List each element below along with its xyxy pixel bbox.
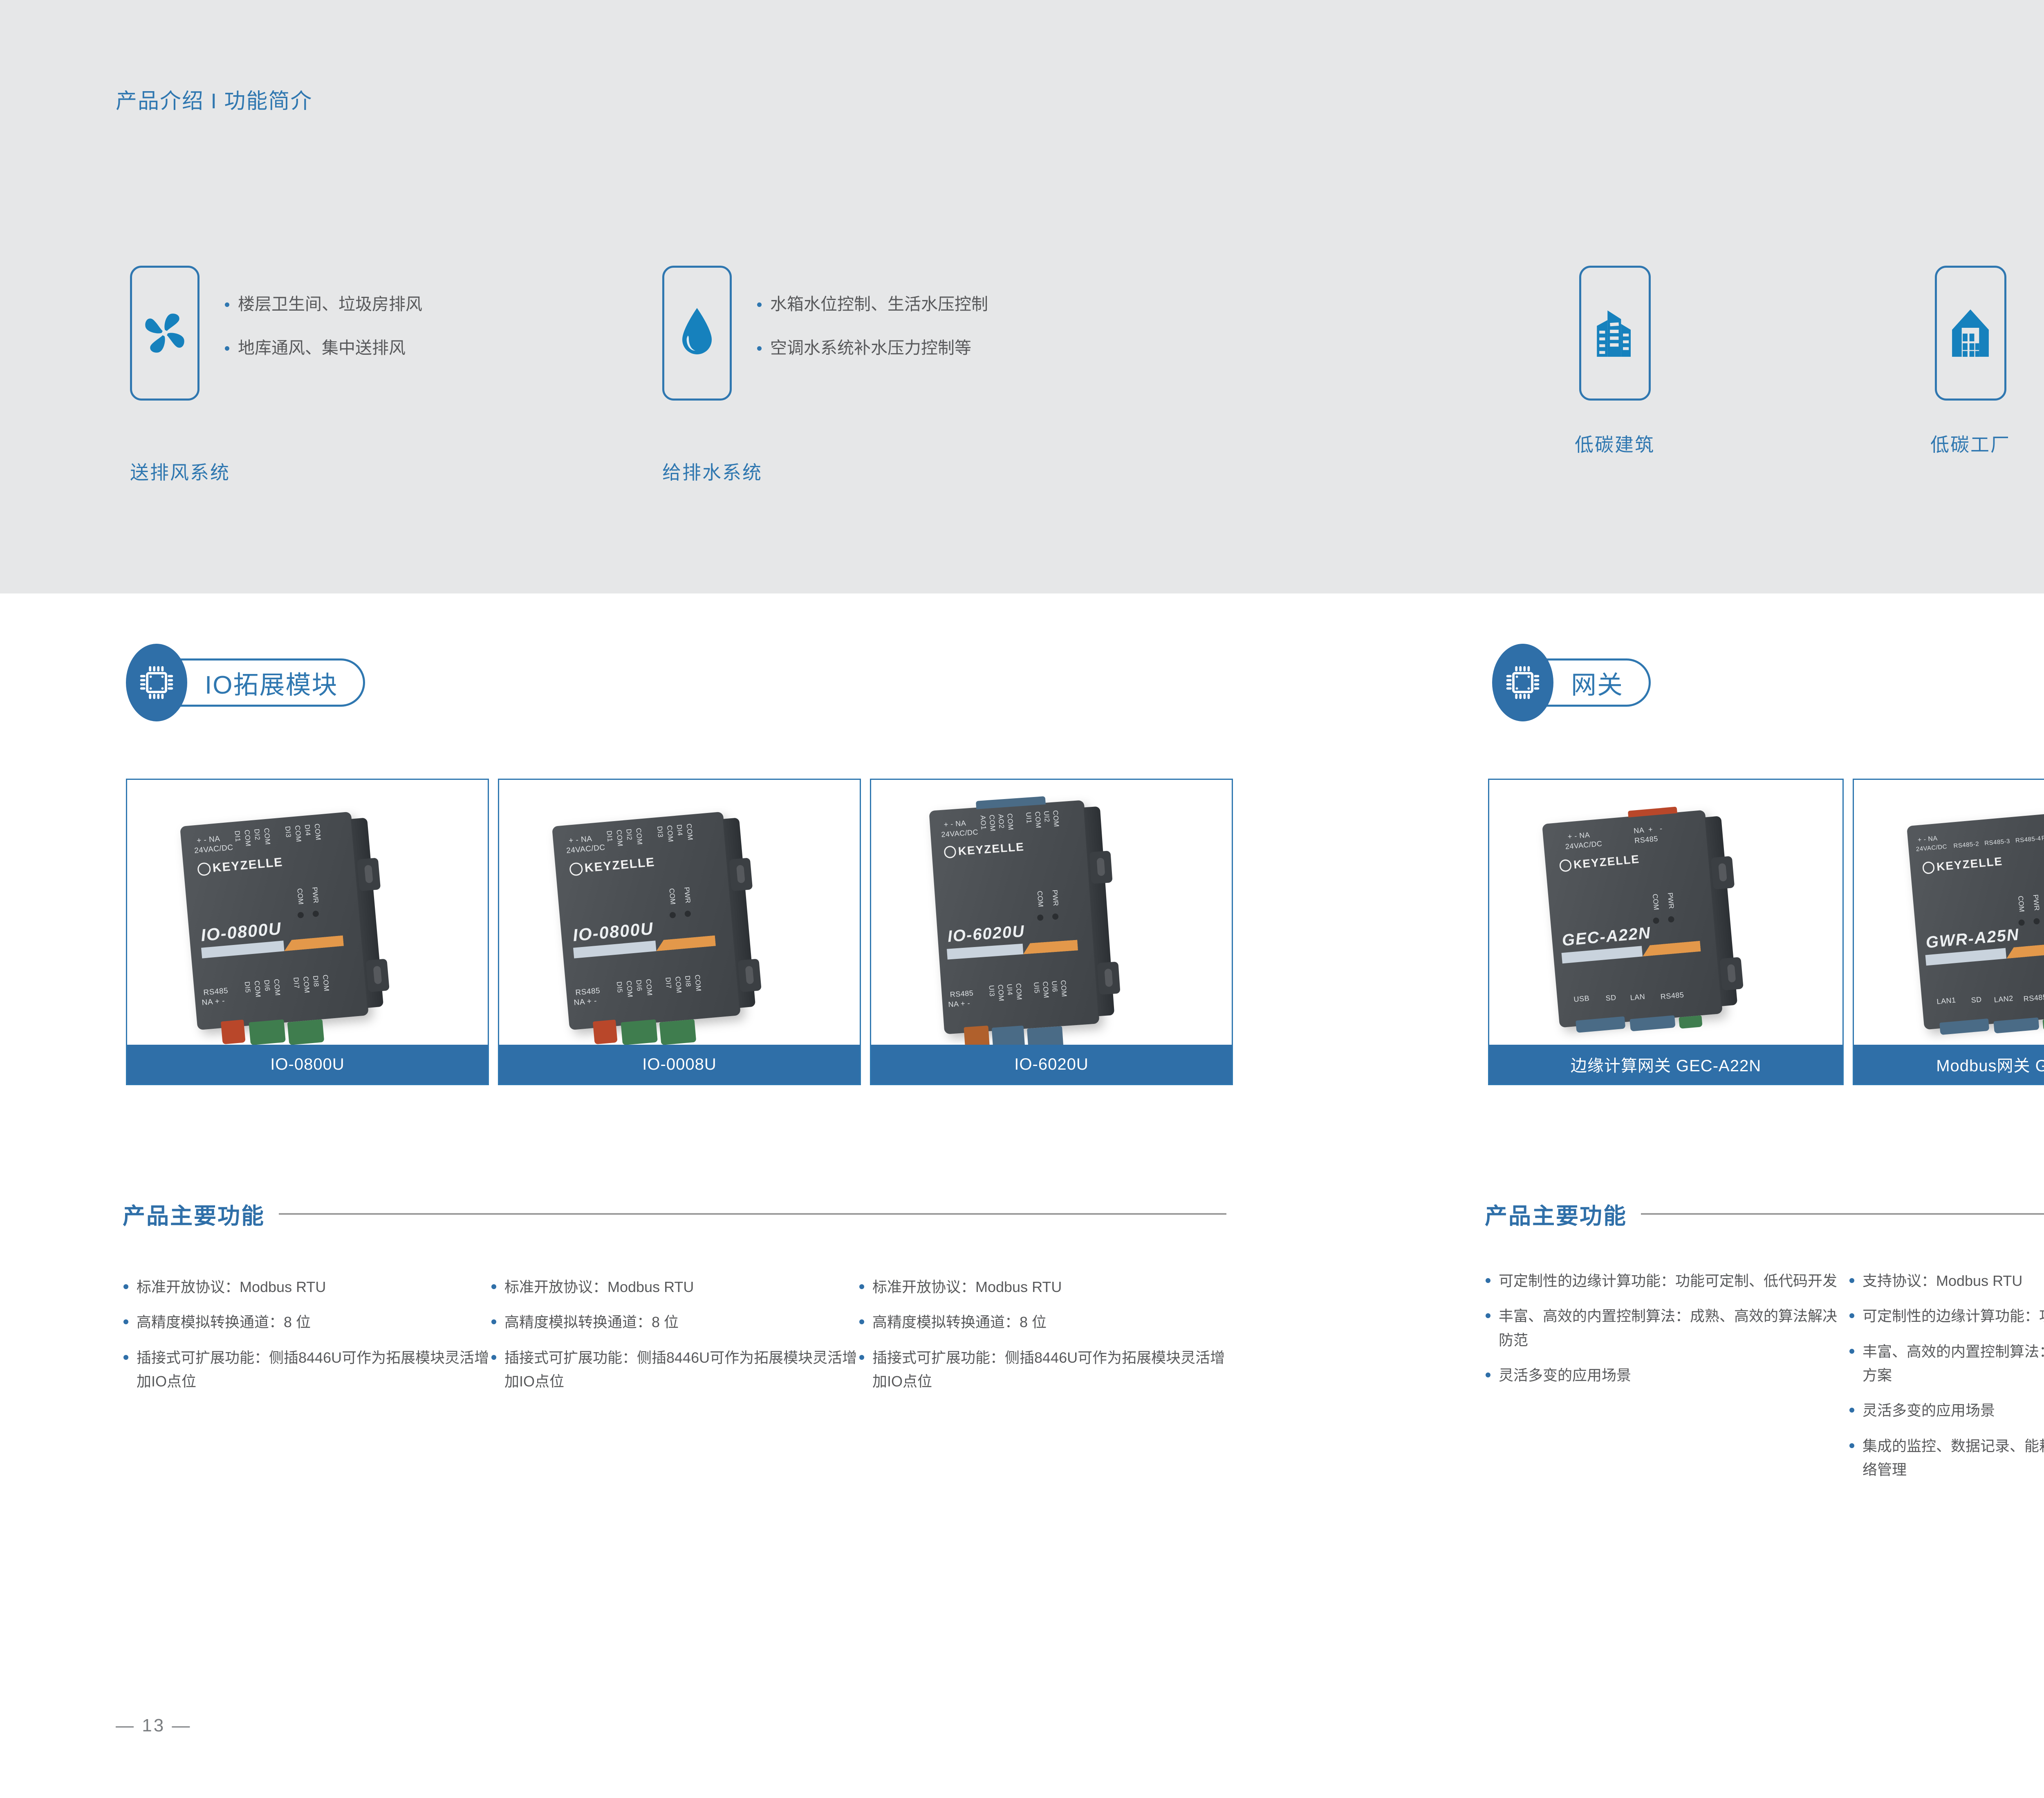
device-pin-rs485-2: RS485-2 <box>1953 840 1979 849</box>
device-pin-com1: COM <box>242 829 252 847</box>
list-item: 灵活多变的应用场景 <box>1849 1399 2044 1422</box>
page-number-left: — 13 — <box>116 1715 191 1736</box>
list-item: 标准开放协议：Modbus RTU <box>123 1275 491 1299</box>
device-pin-com3: COM <box>1033 811 1042 828</box>
chip-icon <box>138 664 175 701</box>
device-rs485-label: RS485 <box>575 987 601 998</box>
device-leds: COM PWR <box>2018 918 2040 926</box>
features-header-io: 产品主要功能 <box>123 1198 1226 1230</box>
list-item: 丰富、高效的内置控制算法：成熟、高效的算法解决防范 <box>1485 1304 1849 1352</box>
brand-text: KEYZELLE <box>584 855 656 875</box>
device-pin-com6: COM <box>272 978 282 996</box>
device-pin-ao2: AO2 <box>996 814 1005 829</box>
device-pin-di6: DI6 <box>262 979 271 992</box>
plumbing-bullets: 水箱水位控制、生活水压控制 空调水系统补水压力控制等 <box>755 266 988 356</box>
led-label-com: COM <box>2016 896 2026 912</box>
device-brand: KEYZELLE <box>1559 853 1641 873</box>
device-pin-com3: COM <box>293 825 303 842</box>
scenario-block-ventilation: 楼层卫生间、垃圾房排风 地库通风、集中送排风 <box>130 266 422 401</box>
list-item: 插接式可扩展功能：侧插8446U可作为拓展模块灵活增加IO点位 <box>858 1346 1226 1394</box>
features-column: 支持协议：Modbus RTU 可定制性的边缘计算功能：功能可定制、低代码开发 … <box>1849 1269 2044 1493</box>
list-item: 灵活多变的应用场景 <box>1485 1364 1849 1387</box>
list-item: 支持协议：Modbus RTU <box>1849 1269 2044 1293</box>
fan-icon-box <box>130 266 199 401</box>
device-illustration: + - NA 24VAC/DC AO1 COM AO2 COM UI1 COM … <box>929 800 1099 1034</box>
low-carbon-factory-block: 低碳工厂 <box>1921 266 2019 457</box>
device-pin-com7: COM <box>301 976 311 994</box>
chip-icon-badge <box>1492 644 1553 721</box>
product-card-label: IO-0008U <box>499 1045 860 1084</box>
device-pin-di5: DI5 <box>243 981 252 994</box>
brand-mark-icon <box>1559 859 1572 872</box>
device-model: IO-0800U <box>572 919 654 945</box>
low-carbon-factory-caption: 低碳工厂 <box>1921 430 2019 457</box>
product-card-row-gateway: + - NA 24VAC/DC NA + - RS485 KEYZELLE CO… <box>1488 779 2044 1085</box>
office-building-icon-box <box>1579 266 1651 401</box>
device-pin-com7: COM <box>673 976 683 994</box>
device-pin-com8: COM <box>1059 980 1068 997</box>
list-item: 楼层卫生间、垃圾房排风 <box>223 296 422 313</box>
product-image: + - NA 24VAC/DC DI1 COM DI2 COM DI3 COM … <box>127 780 488 1045</box>
led-label-pwr: PWR <box>1051 889 1060 906</box>
led-label-com: COM <box>1651 893 1660 910</box>
device-port-rs485-1: RS485-1 <box>2023 992 2044 1003</box>
device-leds: COM PWR <box>1037 913 1059 921</box>
device-pin-com4: COM <box>685 823 695 841</box>
brand-mark-icon <box>569 862 583 876</box>
brand-mark-icon <box>944 846 957 858</box>
device-pin-com8: COM <box>693 974 703 992</box>
features-title: 产品主要功能 <box>123 1198 265 1230</box>
device-rs485-label: RS485 <box>203 987 229 998</box>
office-building-icon <box>1592 307 1637 360</box>
list-item: 水箱水位控制、生活水压控制 <box>755 296 988 313</box>
led-label-pwr: PWR <box>1666 892 1675 909</box>
product-image: + - NA 24VAC/DC NA + - RS485 KEYZELLE CO… <box>1489 780 1842 1045</box>
device-pin-ui4: UI4 <box>1005 984 1014 996</box>
brand-mark-icon <box>1922 861 1935 874</box>
fan-icon <box>141 309 189 357</box>
brand-text: KEYZELLE <box>1573 853 1640 871</box>
list-item: 可定制性的边缘计算功能：功能可定制、低代码开发 <box>1849 1304 2044 1328</box>
water-drop-icon <box>677 307 717 359</box>
device-pin-com4: COM <box>313 823 323 841</box>
features-rule <box>1641 1213 2044 1215</box>
device-pin-com2: COM <box>634 828 644 845</box>
device-pin-di2: DI2 <box>624 828 633 841</box>
list-item: 标准开放协议：Modbus RTU <box>858 1275 1226 1299</box>
device-pin-minus: - <box>1659 824 1663 833</box>
brand-text: KEYZELLE <box>212 855 284 875</box>
features-title: 产品主要功能 <box>1485 1198 1627 1230</box>
device-brand: KEYZELLE <box>569 855 656 877</box>
scenario-caption-plumbing: 给排水系统 <box>662 458 762 485</box>
device-pin-plus: + <box>1648 825 1653 834</box>
water-drop-icon-box <box>662 266 732 401</box>
list-item: 丰富、高效的内置控制算法：成熟、高效的算法解决方案 <box>1849 1340 2044 1388</box>
device-pin-di4: DI4 <box>303 824 312 836</box>
product-card[interactable]: + - NA 24VAC/DC DI1 COM DI2 COM DI3 COM … <box>498 779 861 1085</box>
device-illustration: + - NA 24VAC/DC DI1 COM DI2 COM DI3 COM … <box>552 812 741 1030</box>
device-pin-com5: COM <box>625 980 634 998</box>
device-pin-rs485-3: RS485-3 <box>1984 838 2010 847</box>
device-port-usb: USB <box>1573 994 1590 1004</box>
list-item: 高精度模拟转换通道：8 位 <box>491 1310 858 1334</box>
product-card[interactable]: + - NA 24VAC/DC DI1 COM DI2 COM DI3 COM … <box>126 779 489 1085</box>
factory-icon <box>1948 307 1993 360</box>
device-pin-di3: DI3 <box>655 826 664 838</box>
device-illustration: + - NA 24VAC/DC NA + - RS485 KEYZELLE CO… <box>1542 810 1723 1028</box>
device-brand: KEYZELLE <box>944 840 1024 859</box>
device-port-lan2: LAN2 <box>1994 994 2014 1004</box>
features-columns-gateway: 可定制性的边缘计算功能：功能可定制、低代码开发 丰富、高效的内置控制算法：成熟、… <box>1485 1269 2044 1493</box>
device-pin-com1: COM <box>987 815 997 832</box>
list-item: 集成的监控、数据记录、能耗计量、报警、调度和网络管理 <box>1849 1434 2044 1482</box>
device-pin-di3: DI3 <box>283 826 292 838</box>
ventilation-bullets: 楼层卫生间、垃圾房排风 地库通风、集中送排风 <box>223 266 422 356</box>
brand-mark-icon <box>197 862 211 876</box>
device-pin-com1: COM <box>614 829 624 847</box>
product-card-label: Modbus网关 GWR-A25N <box>1854 1045 2044 1084</box>
device-rs485-pins: NA + - <box>202 996 225 1008</box>
device-brand: KEYZELLE <box>1922 855 2004 875</box>
list-item: 高精度模拟转换通道：8 位 <box>858 1310 1226 1334</box>
device-pin-com7: COM <box>1041 981 1050 998</box>
device-port-rs485: RS485 <box>1660 991 1684 1001</box>
scenario-caption-ventilation: 送排风系统 <box>130 458 230 485</box>
device-pin-com5: COM <box>253 980 262 998</box>
led-label-pwr: PWR <box>310 887 320 903</box>
product-card-label: 边缘计算网关 GEC-A22N <box>1489 1045 1842 1084</box>
device-pin-di6: DI6 <box>634 979 643 992</box>
device-voltage-label: 24VAC/DC <box>1565 840 1602 851</box>
features-column: 标准开放协议：Modbus RTU 高精度模拟转换通道：8 位 插接式可扩展功能… <box>858 1275 1226 1405</box>
features-column: 标准开放协议：Modbus RTU 高精度模拟转换通道：8 位 插接式可扩展功能… <box>491 1275 858 1405</box>
chip-icon-badge <box>126 644 187 721</box>
device-port-lan1: LAN1 <box>1936 996 1957 1006</box>
device-model: IO-6020U <box>947 922 1025 946</box>
device-leds: COM PWR <box>297 910 319 918</box>
product-image: + - NA 24VAC/DC DI1 COM DI2 COM DI3 COM … <box>499 780 860 1045</box>
product-card[interactable]: + - NA 24VAC/DC RS485-2 RS485-3 RS485-4 … <box>1853 779 2044 1085</box>
led-label-pwr: PWR <box>682 887 692 903</box>
list-item: 插接式可扩展功能：侧插8446U可作为拓展模块灵活增加IO点位 <box>123 1346 491 1394</box>
device-pin-di5: DI5 <box>615 981 624 994</box>
section-pill-label: 网关 <box>1571 664 1623 701</box>
device-pin-com5: COM <box>996 984 1005 1001</box>
device-pin-rs485-4: RS485-4 <box>2015 835 2041 844</box>
device-pin-di1: DI1 <box>233 830 242 842</box>
product-image: + - NA 24VAC/DC RS485-2 RS485-3 RS485-4 … <box>1854 780 2044 1045</box>
brand-text: KEYZELLE <box>958 840 1025 858</box>
low-carbon-building-caption: 低碳建筑 <box>1566 430 1664 457</box>
product-card[interactable]: + - NA 24VAC/DC NA + - RS485 KEYZELLE CO… <box>1488 779 1844 1085</box>
device-pin-di7: DI7 <box>663 977 672 989</box>
led-label-com: COM <box>295 888 305 905</box>
product-card[interactable]: + - NA 24VAC/DC AO1 COM AO2 COM UI1 COM … <box>870 779 1233 1085</box>
list-item: 标准开放协议：Modbus RTU <box>491 1275 858 1299</box>
device-power-label: + - NA <box>1567 831 1590 841</box>
device-pin-na: NA <box>1633 826 1645 835</box>
section-pill-label: IO拓展模块 <box>205 664 338 701</box>
device-pin-com8: COM <box>321 974 331 992</box>
features-column: 可定制性的边缘计算功能：功能可定制、低代码开发 丰富、高效的内置控制算法：成熟、… <box>1485 1269 1849 1493</box>
device-pin-di7: DI7 <box>291 977 300 989</box>
list-item: 地库通风、集中送排风 <box>223 340 422 356</box>
device-leds: COM PWR <box>669 910 691 918</box>
device-pin-di4: DI4 <box>675 824 684 836</box>
device-pin-com2: COM <box>1005 813 1015 831</box>
running-header-left: 产品介绍 I 功能简介 <box>116 84 312 114</box>
chip-icon <box>1504 664 1542 701</box>
led-label-com: COM <box>667 888 677 905</box>
list-item: 空调水系统补水压力控制等 <box>755 340 988 356</box>
device-illustration: + - NA 24VAC/DC RS485-2 RS485-3 RS485-4 … <box>1907 812 2044 1030</box>
device-leds: COM PWR <box>1653 916 1674 924</box>
features-rule <box>279 1213 1226 1215</box>
factory-icon-box <box>1935 266 2006 401</box>
low-carbon-building-block: 低碳建筑 <box>1566 266 1664 457</box>
device-pin-di2: DI2 <box>252 828 261 841</box>
features-header-gateway: 产品主要功能 <box>1485 1198 2044 1230</box>
device-pin-di8: DI8 <box>311 975 320 987</box>
brand-text: KEYZELLE <box>1936 855 2003 873</box>
device-pin-com6: COM <box>1014 983 1023 1000</box>
features-columns-io: 标准开放协议：Modbus RTU 高精度模拟转换通道：8 位 插接式可扩展功能… <box>123 1275 1226 1405</box>
device-illustration: + - NA 24VAC/DC DI1 COM DI2 COM DI3 COM … <box>180 812 369 1030</box>
product-image: + - NA 24VAC/DC AO1 COM AO2 COM UI1 COM … <box>871 780 1232 1045</box>
section-header-gateway: 网关 <box>1492 644 1651 721</box>
device-pin-rs485: RS485 <box>1634 835 1658 845</box>
features-column: 标准开放协议：Modbus RTU 高精度模拟转换通道：8 位 插接式可扩展功能… <box>123 1275 491 1405</box>
device-pin-di1: DI1 <box>605 830 614 842</box>
device-pin-di8: DI8 <box>683 975 692 987</box>
device-pin-ui6: UI6 <box>1050 981 1059 992</box>
device-rs485-label: RS485 <box>950 989 974 999</box>
device-pin-com3: COM <box>665 825 675 842</box>
device-pin-com6: COM <box>644 978 654 996</box>
device-voltage-label: 24VAC/DC <box>941 828 979 839</box>
device-pin-ui2: UI2 <box>1042 811 1051 822</box>
device-port-sd: SD <box>1971 995 1982 1005</box>
led-label-com: COM <box>1035 891 1045 907</box>
device-pin-ui1: UI1 <box>1024 812 1033 824</box>
product-card-row-io: + - NA 24VAC/DC DI1 COM DI2 COM DI3 COM … <box>126 779 1233 1085</box>
device-power-label: + - NA <box>568 835 592 846</box>
list-item: 可定制性的边缘计算功能：功能可定制、低代码开发 <box>1485 1269 1849 1293</box>
brochure-spread: 产品介绍 I 功能简介 产品介绍 I 功能简介 楼层卫生间、垃圾房排风 地库通风… <box>0 0 2044 1798</box>
device-port-lan: LAN <box>1630 992 1645 1002</box>
device-power-label: + - NA <box>1917 835 1938 844</box>
list-item: 插接式可扩展功能：侧插8446U可作为拓展模块灵活增加IO点位 <box>491 1346 858 1394</box>
device-rs485-pins: NA + - <box>574 996 597 1008</box>
device-pin-com2: COM <box>262 828 272 845</box>
device-pin-ui5: UI5 <box>1032 982 1041 994</box>
device-pin-ui3: UI3 <box>987 985 996 997</box>
device-model: IO-0800U <box>200 919 282 945</box>
led-label-pwr: PWR <box>2031 894 2041 911</box>
device-voltage-label: 24VAC/DC <box>1916 843 1947 853</box>
device-pin-rs485-5: RA485-5 <box>2041 833 2044 842</box>
product-card-label: IO-0800U <box>127 1045 488 1084</box>
section-header-io-modules: IO拓展模块 <box>126 644 365 721</box>
device-power-label: + - NA <box>944 819 966 829</box>
scenario-block-plumbing: 水箱水位控制、生活水压控制 空调水系统补水压力控制等 <box>662 266 988 401</box>
device-pin-ao1: AO1 <box>978 815 987 830</box>
product-card-label: IO-6020U <box>871 1045 1232 1084</box>
device-pin-com4: COM <box>1051 810 1060 827</box>
device-rs485-pins: NA + - <box>948 999 970 1009</box>
list-item: 高精度模拟转换通道：8 位 <box>123 1310 491 1334</box>
device-port-sd: SD <box>1605 993 1617 1003</box>
device-power-label: + - NA <box>196 835 220 846</box>
device-brand: KEYZELLE <box>197 855 284 877</box>
